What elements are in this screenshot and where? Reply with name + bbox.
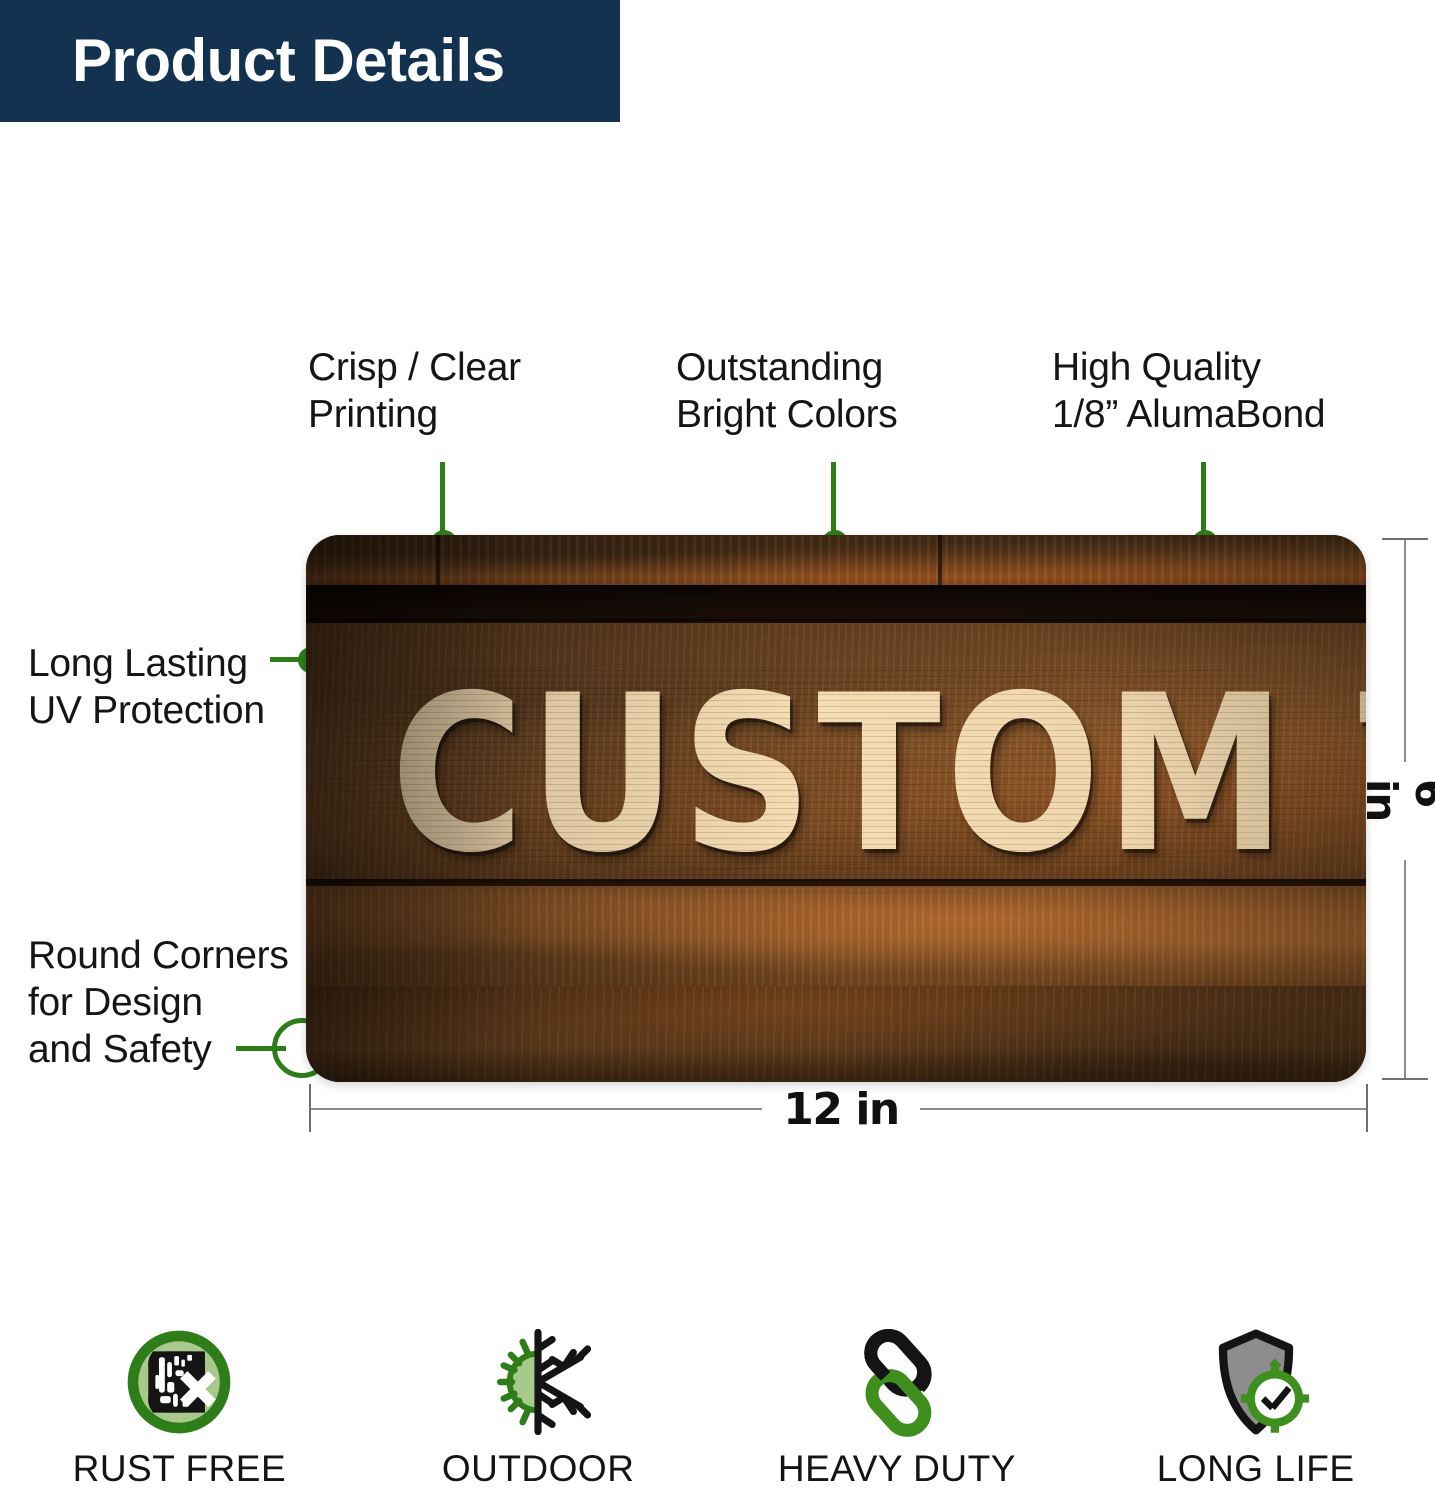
- callout-label-long-lasting-uv-protection: Long Lasting UV Protection: [28, 640, 265, 734]
- wood-seam-vertical-right: [938, 535, 942, 587]
- wood-shadow-gap: [306, 585, 1366, 623]
- wood-grain-lower: [306, 886, 1366, 986]
- callout-label-round-corners-design-safety: Round Corners for Design and Safety: [28, 932, 289, 1073]
- feature-label-rust-free: RUST FREE: [73, 1448, 287, 1490]
- page-title: Product Details: [0, 31, 505, 91]
- feature-rust-free: RUST FREE: [0, 1322, 359, 1500]
- sign-custom-text: CUSTOM TEXT: [391, 667, 1281, 883]
- callout-label-outstanding-bright-colors: Outstanding Bright Colors: [676, 344, 898, 438]
- dimension-tick-width-right: [1366, 1084, 1368, 1132]
- wood-grain-bottom: [306, 986, 1366, 1082]
- wood-seam-vertical-left: [436, 535, 440, 587]
- feature-long-life: LONG LIFE: [1076, 1322, 1435, 1500]
- dimension-line-height-lower: [1404, 860, 1406, 1080]
- leader-line-outstanding-bright-colors: [831, 462, 836, 540]
- callout-label-crisp-clear-printing: Crisp / Clear Printing: [308, 344, 521, 438]
- shield-clock-icon: [1196, 1322, 1316, 1442]
- wood-grain-top: [306, 535, 1366, 587]
- dimension-label-width: 12 in: [762, 1084, 920, 1134]
- header-banner: Product Details: [0, 0, 620, 122]
- dimension-tick-height-bottom: [1382, 1078, 1428, 1080]
- feature-label-long-life: LONG LIFE: [1157, 1448, 1355, 1490]
- dimension-tick-height-top: [1382, 538, 1428, 540]
- sun-snowflake-icon: [478, 1322, 598, 1442]
- dimension-tick-width-left: [309, 1084, 311, 1132]
- feature-label-heavy-duty: HEAVY DUTY: [778, 1448, 1016, 1490]
- chain-link-icon: [837, 1322, 957, 1442]
- leader-line-high-quality-alumabond: [1201, 462, 1206, 540]
- callout-label-high-quality-alumabond: High Quality 1/8” AlumaBond: [1052, 344, 1325, 438]
- feature-label-outdoor: OUTDOOR: [442, 1448, 635, 1490]
- feature-outdoor: OUTDOOR: [359, 1322, 718, 1500]
- feature-heavy-duty: HEAVY DUTY: [718, 1322, 1077, 1500]
- feature-badge-row: RUST FREE: [0, 1322, 1435, 1500]
- sign-preview: CUSTOM TEXT: [306, 535, 1366, 1082]
- dimension-line-height-upper: [1404, 540, 1406, 762]
- dimension-line-width-left: [310, 1108, 762, 1110]
- rust-free-icon: [119, 1322, 239, 1442]
- dimension-label-height: 6 in: [1357, 779, 1435, 843]
- dimension-line-width-right: [920, 1108, 1368, 1110]
- leader-line-crisp-clear-printing: [440, 462, 445, 540]
